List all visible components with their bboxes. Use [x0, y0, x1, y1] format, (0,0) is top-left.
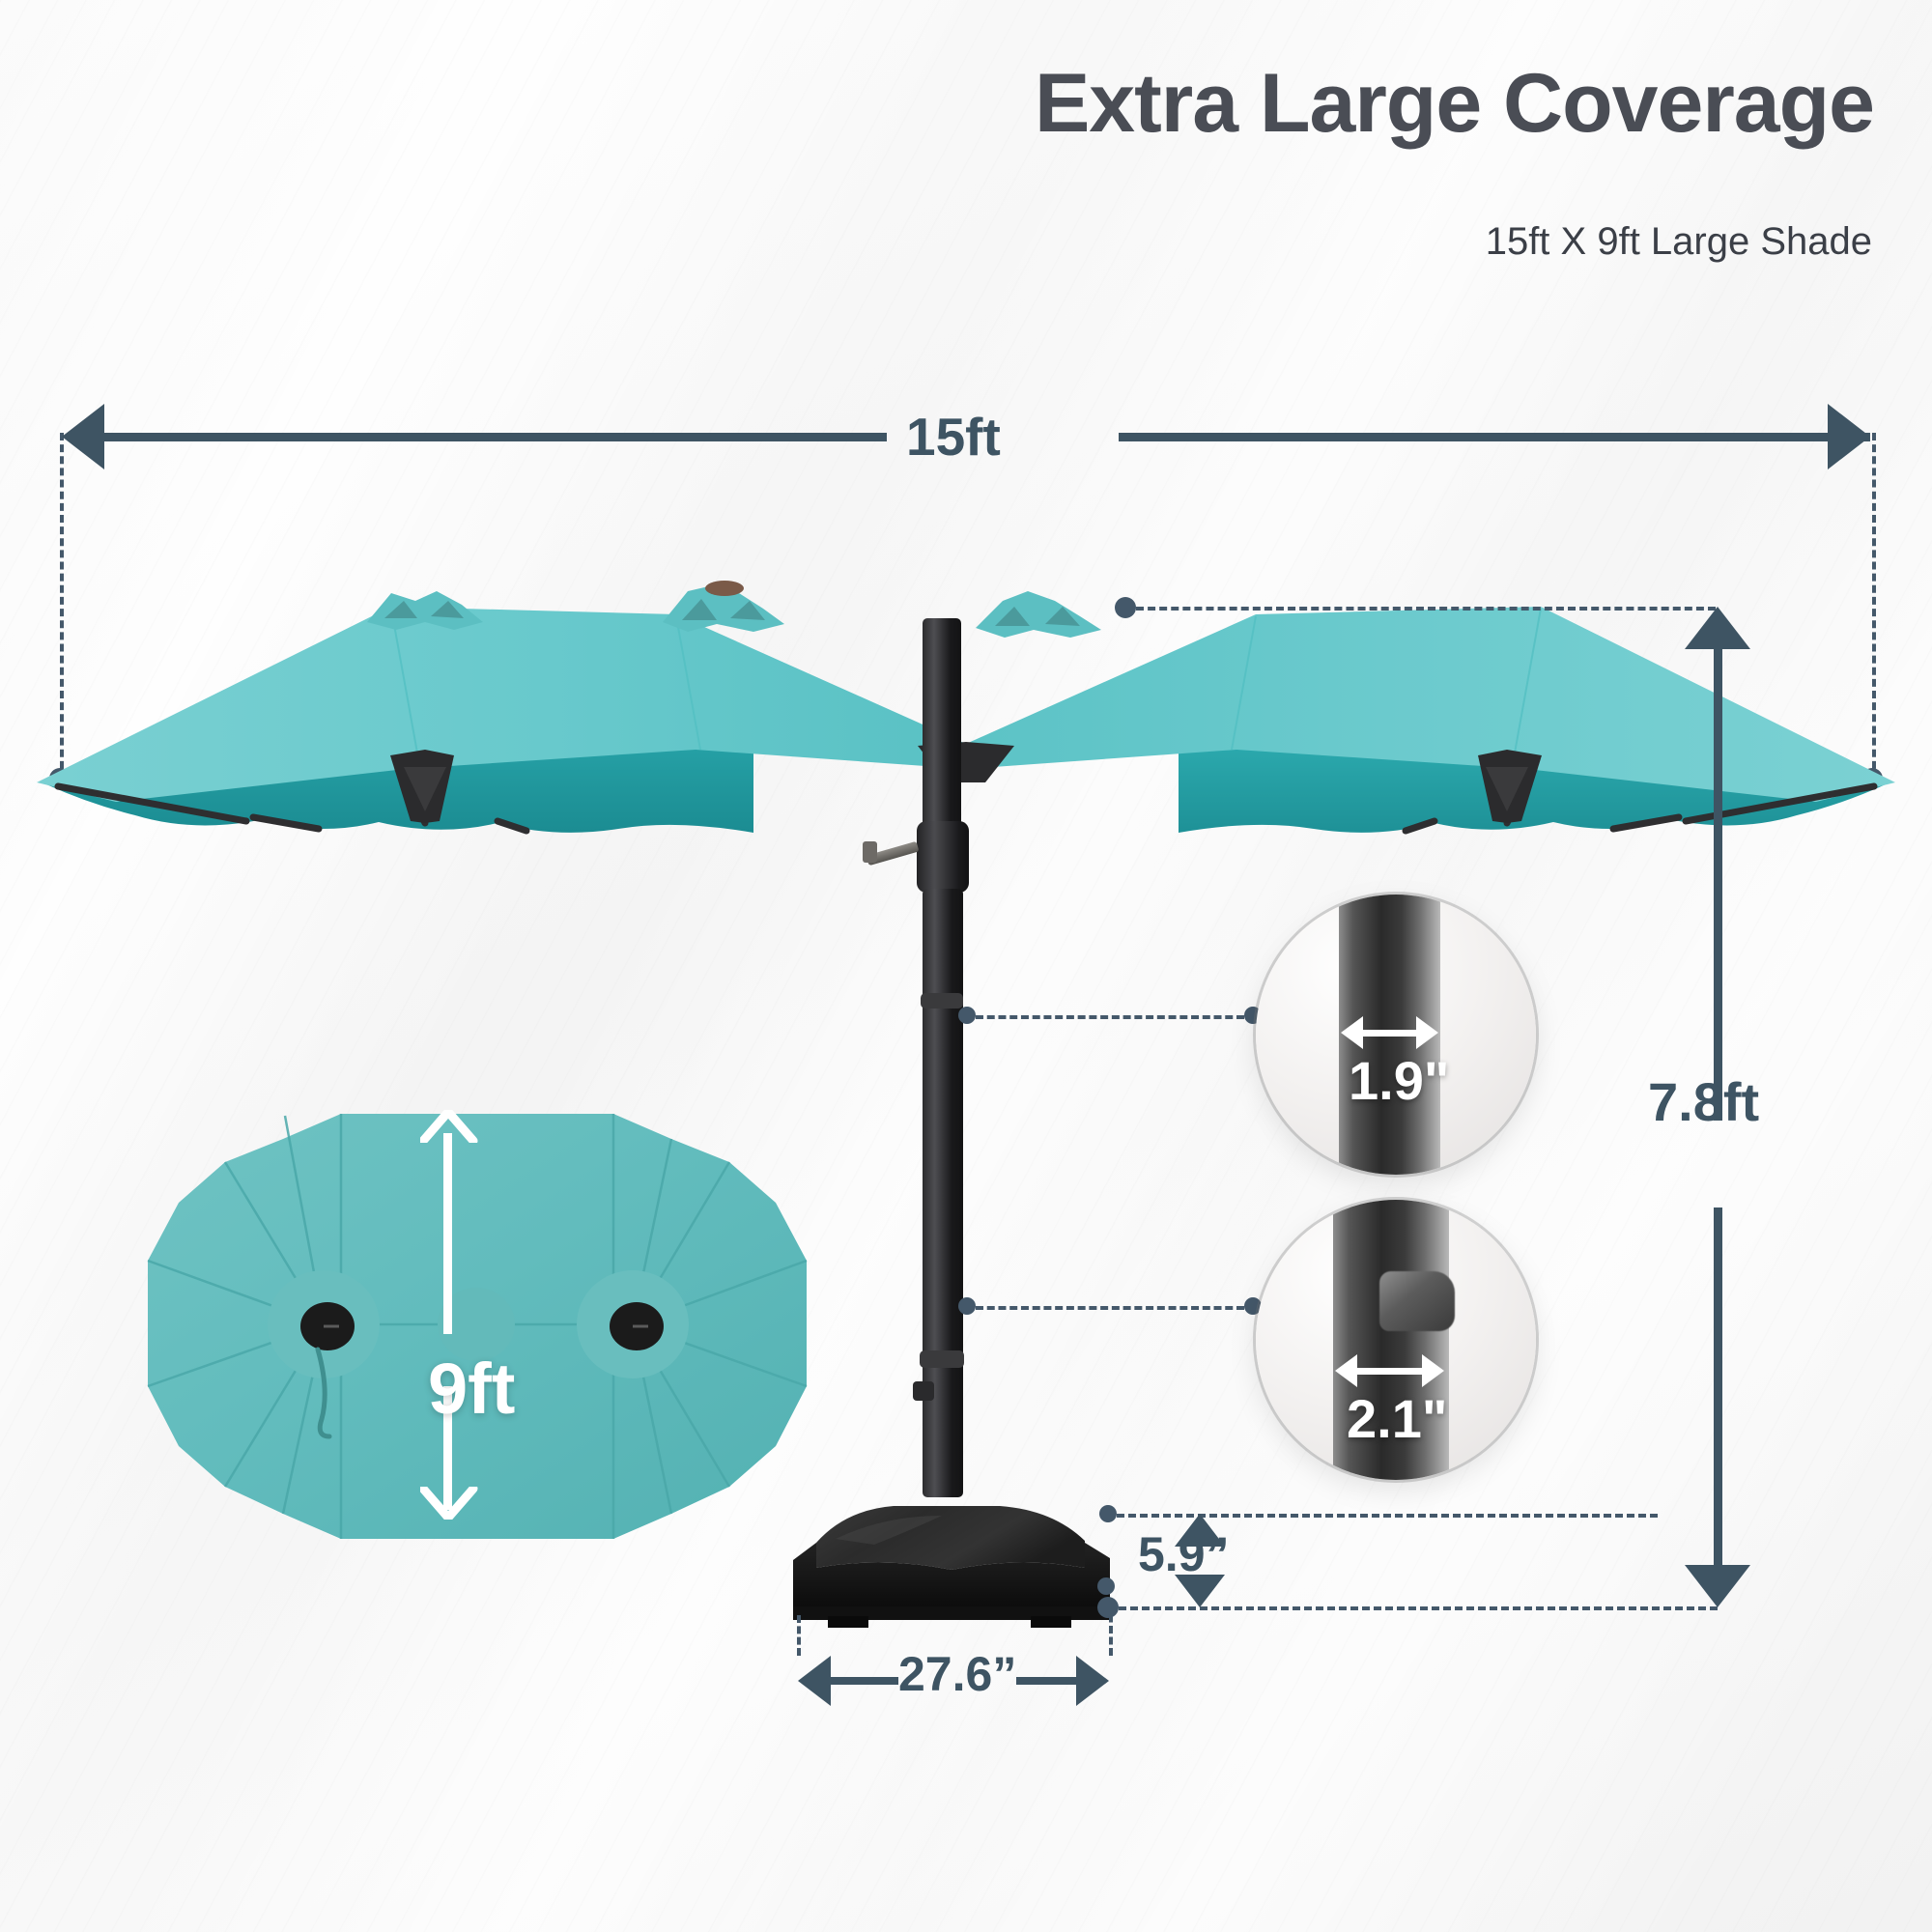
height-dimension-label: 7.8ft	[1648, 1070, 1759, 1133]
upper-pole-magnifier: 1.9"	[1256, 895, 1536, 1175]
top-view-hub-right	[577, 1270, 689, 1378]
height-extension-line-top	[1136, 607, 1716, 611]
lower-pole-leader-line	[976, 1306, 1244, 1310]
arrow-left-icon	[1341, 1016, 1363, 1049]
base-width-extension-left	[797, 1615, 801, 1656]
base-width-bar-right	[1016, 1677, 1078, 1685]
width-dimension-label: 15ft	[906, 406, 1001, 468]
arrow-up-icon	[420, 1110, 478, 1143]
leader-dot-icon	[958, 1007, 976, 1024]
crank-handle-icon	[1379, 1271, 1455, 1331]
height-dimension-bar-lower	[1714, 1207, 1722, 1567]
upper-pole-leader-line	[976, 1015, 1244, 1019]
base-foot-left	[828, 1616, 868, 1628]
page-subtitle: 15ft X 9ft Large Shade	[1486, 220, 1872, 264]
depth-dimension-label: 9ft	[428, 1348, 515, 1430]
upper-pole-dimension-label: 1.9"	[1349, 1049, 1449, 1112]
width-dimension-bar-left	[102, 433, 887, 441]
page-title: Extra Large Coverage	[1035, 56, 1874, 152]
arrow-left-icon	[1335, 1354, 1357, 1387]
umbrella-base	[778, 1492, 1125, 1647]
leader-dot-icon	[1097, 1577, 1115, 1595]
umbrella-top-view	[130, 1096, 821, 1560]
height-dimension-bar-upper	[1714, 647, 1722, 1121]
leader-dot-icon	[1099, 1505, 1117, 1522]
base-width-bar-left	[829, 1677, 898, 1685]
arrow-left-icon	[62, 404, 104, 469]
arrow-right-icon	[1076, 1656, 1109, 1706]
arrow-up-icon	[1685, 607, 1750, 649]
umbrella-pole	[923, 618, 990, 1584]
arrow-down-icon	[1685, 1565, 1750, 1607]
crank-housing	[917, 821, 969, 893]
crank-knob-icon	[863, 841, 877, 863]
lower-pole-dimension-label: 2.1"	[1347, 1387, 1447, 1450]
leader-dot-icon	[1115, 597, 1136, 618]
canopy-finial-right	[976, 591, 1101, 638]
canopy-finial-center	[663, 581, 784, 632]
pole-lower-segment	[923, 889, 963, 1497]
arrow-right-icon	[1828, 404, 1870, 469]
arrow-down-icon	[420, 1487, 478, 1520]
leader-dot-icon	[1097, 1597, 1119, 1618]
depth-dimension-line-upper	[443, 1133, 452, 1334]
pole-collar-upper	[921, 993, 963, 1009]
pole-collar-lower	[920, 1350, 964, 1368]
pole-pin-icon	[913, 1381, 934, 1401]
arrow-right-icon	[1416, 1016, 1438, 1049]
arrow-left-icon	[798, 1656, 831, 1706]
callout-measure-line	[1347, 1368, 1434, 1375]
leader-dot-icon	[958, 1297, 976, 1315]
base-width-dimension-label: 27.6”	[898, 1646, 1016, 1702]
base-width-extension-right	[1109, 1604, 1113, 1656]
arrow-right-icon	[1422, 1354, 1444, 1387]
base-svg	[778, 1492, 1125, 1647]
base-foot-right	[1031, 1616, 1071, 1628]
lower-pole-magnifier: 2.1"	[1256, 1200, 1536, 1480]
base-height-dimension-label: 5.9”	[1138, 1526, 1230, 1582]
width-dimension-bar-right	[1119, 433, 1870, 441]
